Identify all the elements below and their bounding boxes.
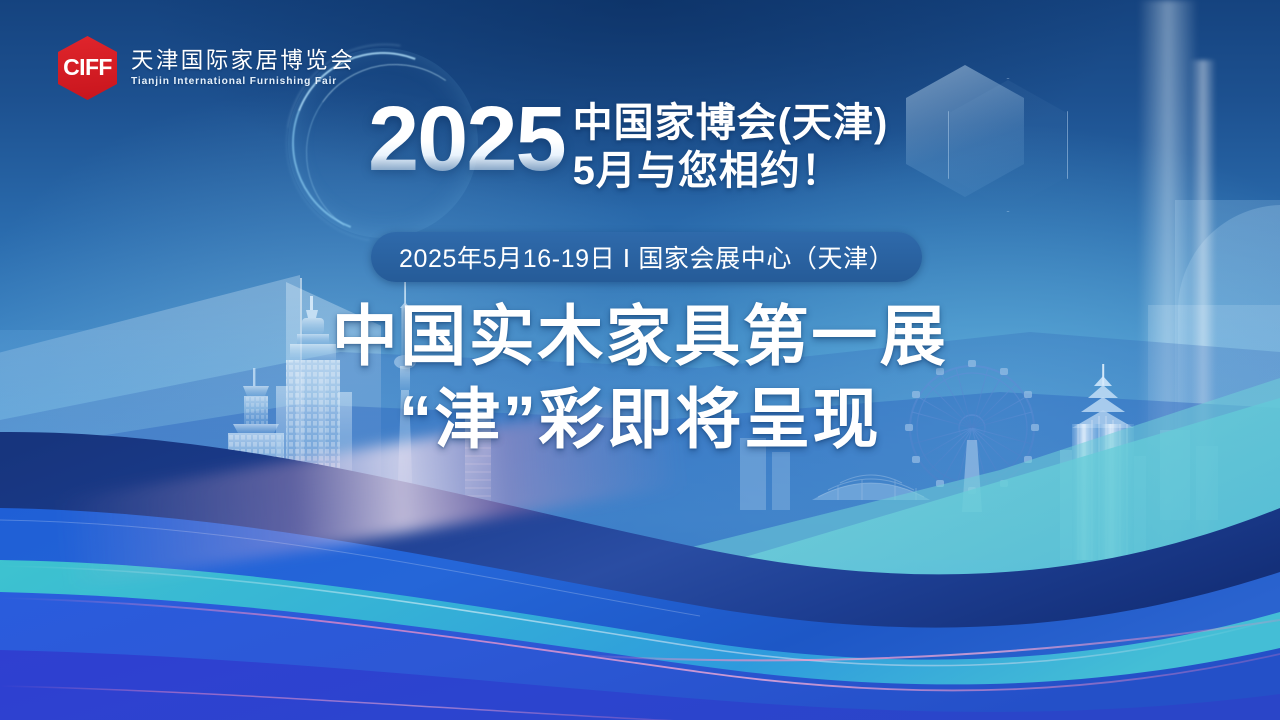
promo-banner: CIFF 天津国际家居博览会 Tianjin International Fur… <box>0 0 1280 720</box>
brand-name-cn: 天津国际家居博览会 <box>131 49 355 73</box>
title-line-1: 中国家博会(天津) <box>573 100 889 146</box>
brand-header: CIFF 天津国际家居博览会 Tianjin International Fur… <box>58 36 355 100</box>
brand-name-block: 天津国际家居博览会 Tianjin International Furnishi… <box>131 49 355 87</box>
title-block: 2025 中国家博会(天津) 5月与您相约！ <box>368 96 888 195</box>
date-venue-badge: 2025年5月16-19日 Ⅰ 国家会展中心（天津） <box>371 232 922 282</box>
light-column-right <box>1138 0 1198 560</box>
ciff-logo-icon: CIFF <box>58 36 117 100</box>
slogan-line-1: 中国实木家具第一展 <box>332 298 949 375</box>
brand-name-en: Tianjin International Furnishing Fair <box>131 76 355 87</box>
slogan-block: 中国实木家具第一展 “津”彩即将呈现 <box>0 298 1280 458</box>
slogan-line-2: “津”彩即将呈现 <box>399 381 881 458</box>
ciff-logo-wordmark: CIFF <box>63 56 112 79</box>
title-lines: 中国家博会(天津) 5月与您相约！ <box>573 100 889 195</box>
event-year: 2025 <box>368 96 565 183</box>
date-venue-text: 2025年5月16-19日 Ⅰ 国家会展中心（天津） <box>399 239 894 275</box>
title-line-2: 5月与您相约！ <box>573 148 889 194</box>
